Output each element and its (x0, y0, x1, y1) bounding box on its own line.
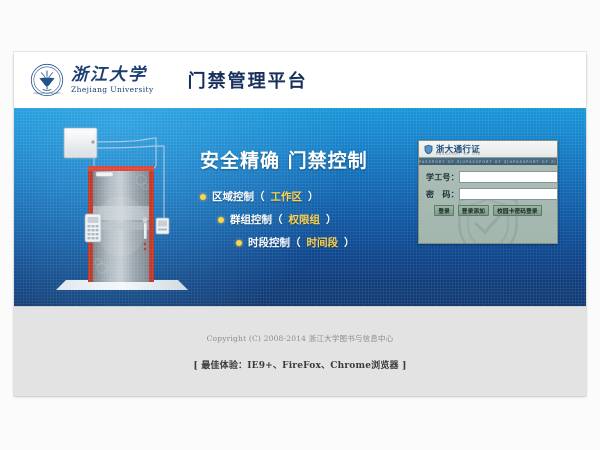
feature-label: 时段控制（ (248, 235, 301, 250)
shield-icon (424, 144, 433, 155)
feature-suffix: ） (344, 235, 355, 250)
feature-label: 群组控制（ (230, 212, 283, 227)
svg-text:ZHEJIANG UNIVERSITY: ZHEJIANG UNIVERSITY (33, 92, 61, 95)
banner-heading: 安全精确 门禁控制 (200, 146, 410, 173)
feature-list: 区域控制（ 工作区 ） 群组控制（ 权限组 ） 时段控制（ 时间段 ） (200, 189, 410, 250)
feature-suffix: ） (326, 212, 337, 227)
userid-label: 学工号： (426, 172, 459, 183)
userid-input[interactable] (459, 171, 558, 183)
browser-compatibility-note: [ 最佳体验：IE9+、FireFox、Chrome浏览器 ] (193, 358, 406, 371)
feature-label: 区域控制（ (212, 189, 265, 204)
feature-highlight: 工作区 (271, 189, 303, 204)
university-logo[interactable]: ZHEJIANG UNIVERSITY 浙江大学 Zhejiang Univer… (30, 63, 154, 97)
feature-item-area-control: 区域控制（ 工作区 ） (200, 189, 410, 204)
password-label: 密 码： (426, 189, 459, 200)
login-panel-strip: PASSPORT OF ZJU PASSPORT OF ZJU PASSPORT… (419, 158, 557, 165)
copyright-text: Copyright (C) 2008-2014 浙江大学图书与信息中心 (207, 333, 394, 344)
bullet-dot-icon (200, 194, 206, 200)
site-header: ZHEJIANG UNIVERSITY 浙江大学 Zhejiang Univer… (14, 52, 586, 108)
login-panel-titlebar: 浙大通行证 PASSPORT OF ZJU (419, 141, 557, 158)
form-row-userid: 学工号： (426, 171, 550, 183)
site-footer: Copyright (C) 2008-2014 浙江大学图书与信息中心 [ 最佳… (14, 306, 586, 396)
logo-text-cn: 浙江大学 (71, 67, 154, 84)
strip-text: PASSPORT OF ZJU (466, 160, 513, 164)
strip-text: PASSPORT OF ZJU (513, 160, 557, 164)
page-container: ZHEJIANG UNIVERSITY 浙江大学 Zhejiang Univer… (14, 52, 586, 396)
page-title: 门禁管理平台 (188, 67, 308, 93)
bullet-dot-icon (218, 217, 224, 223)
login-button[interactable]: 登录 (434, 205, 454, 216)
login-button-row: 登录 登录添加 校园卡密码登录 (419, 205, 557, 216)
login-form: 学工号： 密 码： (419, 165, 557, 200)
zju-emblem-icon: ZHEJIANG UNIVERSITY (30, 63, 64, 97)
logo-text-en: Zhejiang University (71, 86, 154, 94)
form-row-password: 密 码： (426, 188, 550, 200)
login-add-button[interactable]: 登录添加 (458, 205, 489, 216)
feature-item-time-control: 时段控制（ 时间段 ） (200, 235, 410, 250)
feature-item-group-control: 群组控制（ 权限组 ） (200, 212, 410, 227)
login-panel-subtitle: PASSPORT OF ZJU (436, 152, 481, 156)
login-panel: 浙大通行证 PASSPORT OF ZJU PASSPORT OF ZJU PA… (418, 140, 558, 244)
campus-card-login-button[interactable]: 校园卡密码登录 (493, 205, 542, 216)
access-control-door-illustration (52, 122, 192, 302)
feature-highlight: 权限组 (289, 212, 321, 227)
password-input[interactable] (459, 188, 558, 200)
strip-text: PASSPORT OF ZJU (419, 160, 466, 164)
banner-copy: 安全精确 门禁控制 区域控制（ 工作区 ） 群组控制（ 权限组 ） 时段控制（ (200, 146, 410, 258)
feature-suffix: ） (308, 189, 319, 204)
hero-banner: 安全精确 门禁控制 区域控制（ 工作区 ） 群组控制（ 权限组 ） 时段控制（ (14, 108, 586, 306)
bullet-dot-icon (236, 240, 242, 246)
feature-highlight: 时间段 (307, 235, 339, 250)
